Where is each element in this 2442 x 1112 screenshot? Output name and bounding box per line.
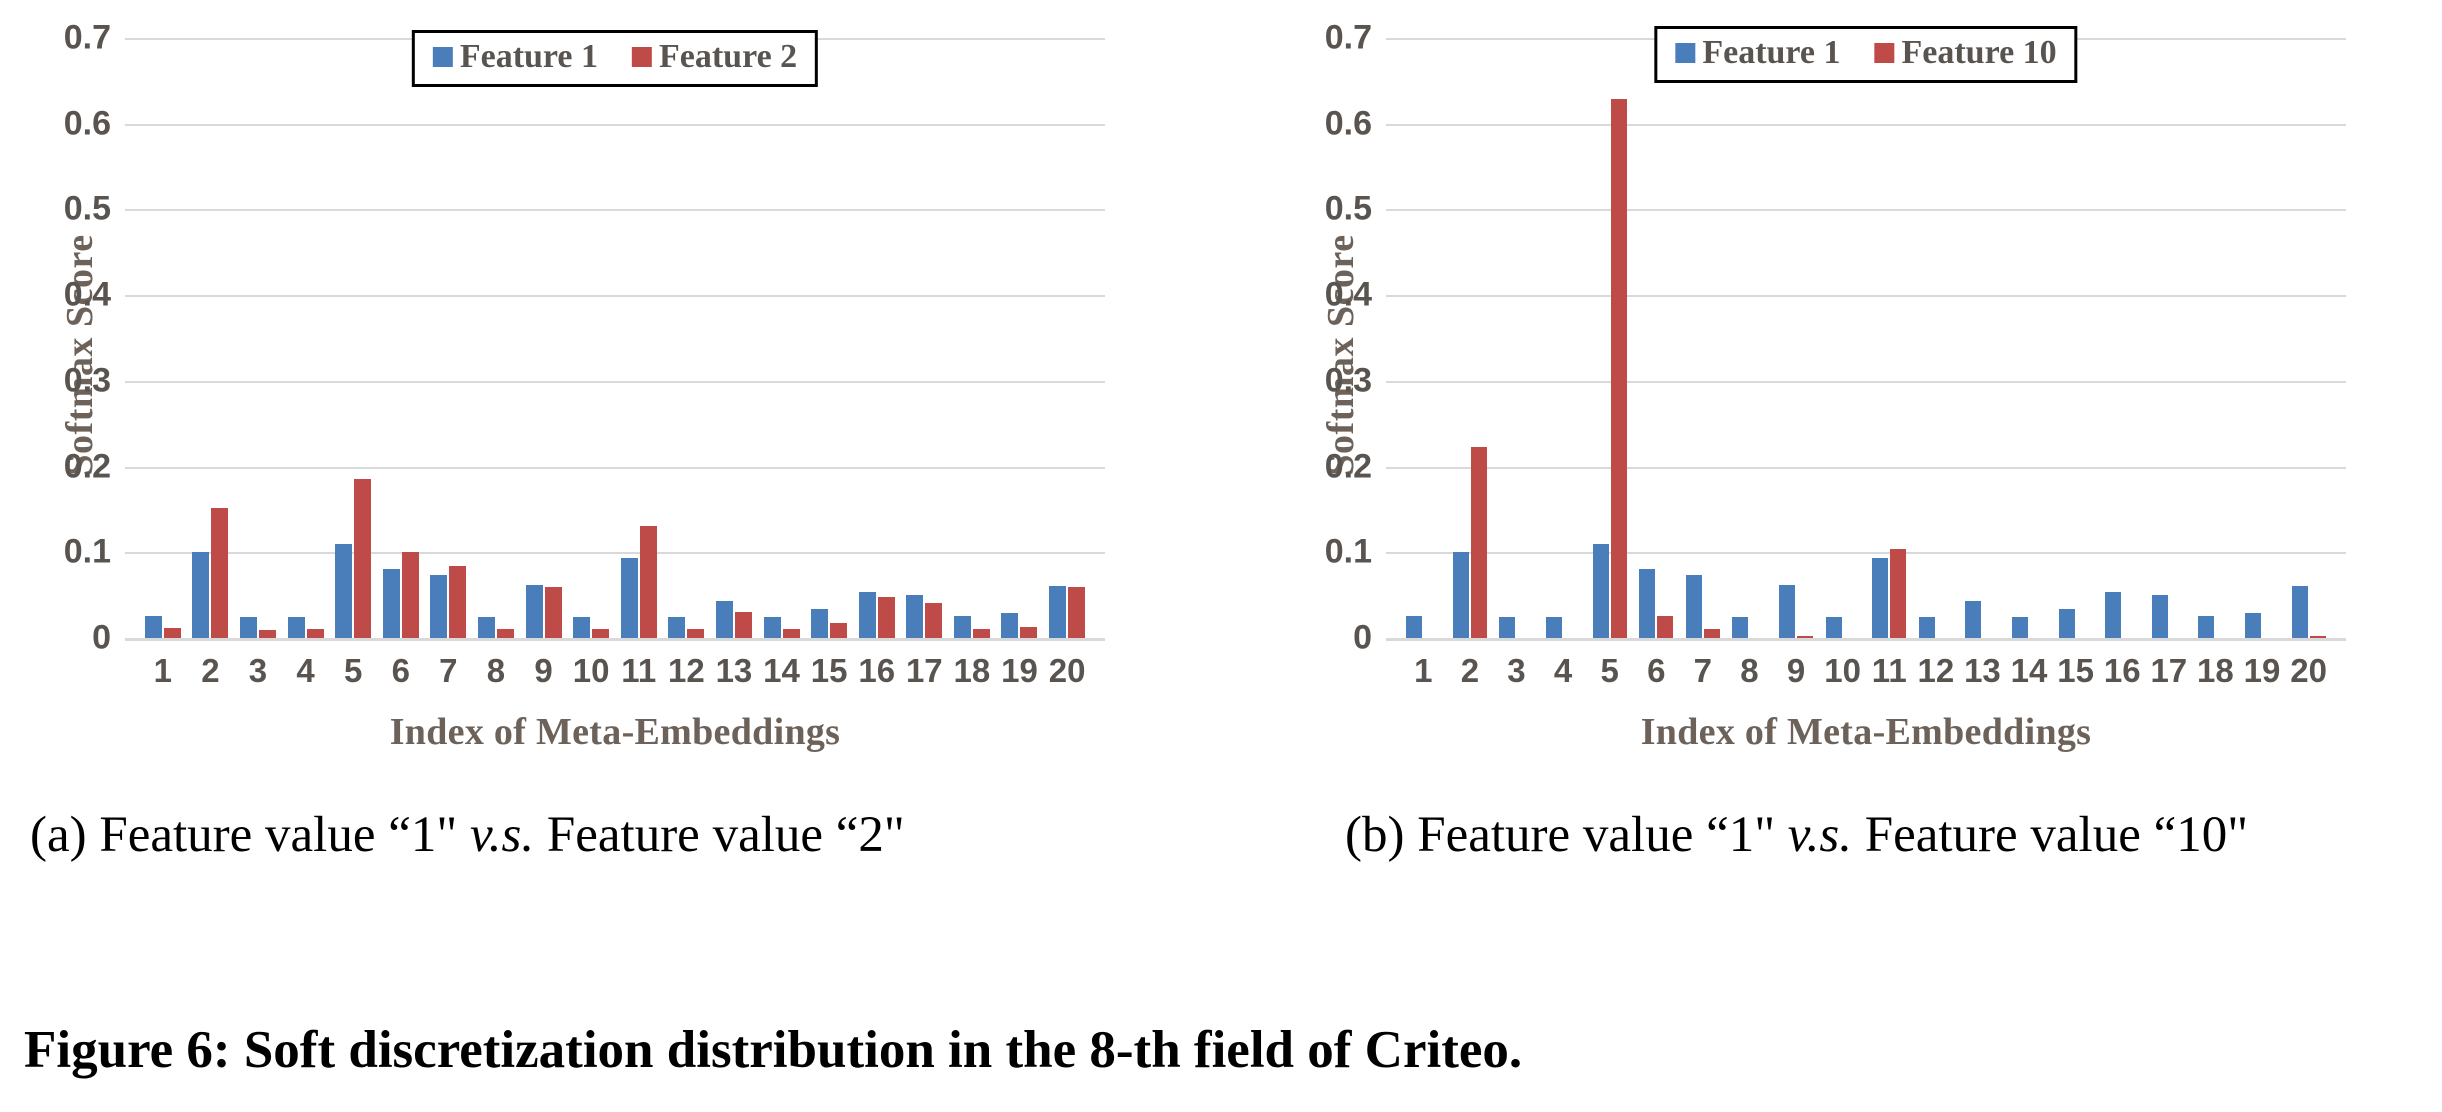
y-axis-tick-label-b: 0.5 — [1325, 190, 1372, 229]
bar-feature-1-15 — [2059, 609, 2075, 638]
bar-group — [1043, 38, 1091, 638]
bar-feature-2-14 — [783, 629, 800, 638]
bar-group — [329, 38, 377, 638]
x-axis-tick-label-5: 5 — [1586, 652, 1633, 690]
bar-feature-2-5 — [354, 479, 371, 638]
bar-feature-1-10 — [1826, 617, 1842, 638]
bar-group — [520, 38, 568, 638]
bar-feature-1-6 — [383, 569, 400, 638]
bar-feature-1-12 — [668, 617, 685, 638]
bar-feature-10-9 — [1797, 636, 1813, 638]
legend-item-feature-1-b: Feature 1 — [1675, 34, 1840, 72]
bar-feature-1-19 — [1001, 613, 1018, 638]
bar-feature-1-8 — [478, 617, 495, 638]
bar-feature-10-6 — [1657, 616, 1673, 638]
bar-group — [948, 38, 996, 638]
bar-group — [901, 38, 949, 638]
bar-feature-1-7 — [430, 575, 447, 638]
x-axis-tick-label-6: 6 — [377, 652, 425, 690]
x-axis-tick-label-6: 6 — [1633, 652, 1680, 690]
x-axis-tick-label-14: 14 — [2006, 652, 2053, 690]
x-axis-tick-label-3: 3 — [1493, 652, 1540, 690]
x-axis-tick-label-4: 4 — [282, 652, 330, 690]
y-axis-tick-label-a: 0.6 — [64, 104, 111, 143]
bar-feature-1-4 — [288, 617, 305, 638]
bar-group — [2192, 38, 2239, 638]
gridline-b — [1386, 638, 2346, 641]
bar-feature-2-1 — [164, 628, 181, 638]
bar-feature-1-14 — [764, 617, 781, 638]
bar-feature-1-13 — [1965, 601, 1981, 638]
x-axis-tick-label-1: 1 — [1400, 652, 1447, 690]
bar-feature-1-9 — [526, 585, 543, 638]
x-axis-tick-label-9: 9 — [1773, 652, 1820, 690]
legend-label-series-1-b: Feature 10 — [1902, 34, 2057, 72]
x-axis-tick-label-5: 5 — [329, 652, 377, 690]
bar-feature-1-11 — [621, 558, 638, 638]
bar-feature-1-18 — [2198, 616, 2214, 638]
legend-label-series-0-a: Feature 1 — [460, 38, 598, 76]
bar-group — [710, 38, 758, 638]
bar-feature-1-18 — [954, 616, 971, 638]
x-axis-tick-label-3: 3 — [234, 652, 282, 690]
bar-feature-2-2 — [211, 508, 228, 638]
x-axis-tick-label-16: 16 — [853, 652, 901, 690]
x-axis-tick-label-4: 4 — [1540, 652, 1587, 690]
legend-swatch-icon-series-0-a — [433, 47, 453, 67]
bar-feature-10-2 — [1471, 447, 1487, 638]
bar-feature-1-20 — [2292, 586, 2308, 638]
x-axis-tick-label-11: 11 — [615, 652, 663, 690]
x-axis-tick-label-8: 8 — [472, 652, 520, 690]
bar-feature-1-1 — [1406, 616, 1422, 638]
plot-area-b: Feature 1 Feature 10 00.10.20.30.40.50.6… — [1386, 38, 2346, 638]
x-axis-tick-label-7: 7 — [425, 652, 473, 690]
bar-feature-10-7 — [1704, 629, 1720, 638]
legend-swatch-icon-series-1-b — [1875, 43, 1895, 63]
plot-area-a: Feature 1 Feature 2 00.10.20.30.40.50.60… — [125, 38, 1105, 638]
bar-feature-1-12 — [1919, 617, 1935, 638]
bar-group — [139, 38, 187, 638]
bar-feature-2-8 — [497, 629, 514, 638]
legend-swatch-icon-series-0-b — [1675, 43, 1695, 63]
bar-feature-10-11 — [1890, 549, 1906, 638]
bar-feature-2-7 — [449, 566, 466, 638]
bar-feature-2-16 — [878, 597, 895, 638]
bar-group — [567, 38, 615, 638]
bar-feature-1-17 — [906, 595, 923, 638]
bar-feature-2-17 — [925, 603, 942, 638]
bar-group — [282, 38, 330, 638]
x-axis-label-b: Index of Meta-Embeddings — [1386, 710, 2346, 754]
bar-group — [377, 38, 425, 638]
bar-group — [758, 38, 806, 638]
x-axis-tick-label-2: 2 — [1447, 652, 1494, 690]
bar-feature-1-14 — [2012, 617, 2028, 638]
figure-caption: Figure 6: Soft discretization distributi… — [24, 1020, 2424, 1080]
bar-feature-10-20 — [2310, 636, 2326, 638]
y-axis-tick-label-a: 0.3 — [64, 361, 111, 400]
bar-feature-2-19 — [1020, 627, 1037, 638]
bar-feature-1-5 — [1593, 544, 1609, 638]
x-axis-tick-label-19: 19 — [2239, 652, 2286, 690]
y-axis-tick-label-a: 0.4 — [64, 276, 111, 315]
bar-feature-1-19 — [2245, 613, 2261, 638]
bar-group — [1913, 38, 1960, 638]
bar-feature-1-16 — [859, 592, 876, 638]
legend-item-feature-2-a: Feature 2 — [632, 38, 797, 76]
y-axis-tick-label-b: 0.6 — [1325, 104, 1372, 143]
subcaption-a-suffix: Feature value “2" — [534, 807, 905, 863]
bar-feature-10-5 — [1611, 99, 1627, 638]
bar-group — [1493, 38, 1540, 638]
legend-label-series-1-a: Feature 2 — [659, 38, 797, 76]
bar-feature-2-3 — [259, 630, 276, 638]
y-axis-tick-label-a: 0.7 — [64, 19, 111, 58]
chart-panel-b: Softmax Score Feature 1 Feature 10 00.10… — [1221, 0, 2442, 800]
bar-feature-1-15 — [811, 609, 828, 638]
figure-6-root: Softmax Score Feature 1 Feature 2 00.10.… — [0, 0, 2442, 1112]
bar-feature-1-4 — [1546, 617, 1562, 638]
chart-panel-a: Softmax Score Feature 1 Feature 2 00.10.… — [0, 0, 1221, 800]
x-axis-label-a: Index of Meta-Embeddings — [125, 710, 1105, 754]
y-axis-tick-label-b: 0.4 — [1325, 276, 1372, 315]
bar-group — [2052, 38, 2099, 638]
subcaption-a: (a) Feature value “1" v.s. Feature value… — [30, 808, 1140, 863]
x-axis-tick-label-18: 18 — [2192, 652, 2239, 690]
bar-group — [1633, 38, 1680, 638]
x-axis-tick-label-11: 11 — [1866, 652, 1913, 690]
x-axis-tick-label-13: 13 — [1959, 652, 2006, 690]
x-axis-tick-label-12: 12 — [663, 652, 711, 690]
legend-item-feature-1-a: Feature 1 — [433, 38, 598, 76]
bar-feature-1-2 — [192, 552, 209, 638]
bar-feature-1-3 — [240, 617, 257, 638]
x-axis-tick-label-10: 10 — [567, 652, 615, 690]
x-axis-tick-label-9: 9 — [520, 652, 568, 690]
legend-b: Feature 1 Feature 10 — [1654, 26, 2077, 83]
x-axis-tick-label-16: 16 — [2099, 652, 2146, 690]
x-axis-tick-label-10: 10 — [1819, 652, 1866, 690]
bar-group — [2146, 38, 2193, 638]
bar-feature-1-6 — [1639, 569, 1655, 638]
bar-feature-2-6 — [402, 552, 419, 638]
y-axis-tick-label-b: 0.2 — [1325, 447, 1372, 486]
x-axis-tick-label-1: 1 — [139, 652, 187, 690]
subcaption-b-suffix: Feature value “10" — [1852, 807, 2248, 863]
bar-feature-1-16 — [2105, 592, 2121, 638]
subcaption-b: (b) Feature value “1" v.s. Feature value… — [1345, 808, 2442, 863]
subcaption-a-prefix: (a) Feature value “1" — [30, 807, 470, 863]
gridline-a — [125, 638, 1105, 641]
y-axis-tick-label-a: 0.1 — [64, 533, 111, 572]
x-axis-tick-label-8: 8 — [1726, 652, 1773, 690]
x-axis-tick-label-17: 17 — [901, 652, 949, 690]
x-axis-tick-label-12: 12 — [1913, 652, 1960, 690]
bar-feature-2-20 — [1068, 587, 1085, 638]
bar-group — [1819, 38, 1866, 638]
y-axis-tick-label-a: 0.5 — [64, 190, 111, 229]
y-axis-tick-label-a: 0.2 — [64, 447, 111, 486]
bar-feature-1-9 — [1779, 585, 1795, 638]
x-axis-tick-label-17: 17 — [2146, 652, 2193, 690]
bar-feature-2-4 — [307, 629, 324, 638]
y-axis-tick-label-b: 0.7 — [1325, 19, 1372, 58]
bar-feature-1-7 — [1686, 575, 1702, 638]
bar-group — [1447, 38, 1494, 638]
bar-group — [1726, 38, 1773, 638]
bars-container-b — [1386, 38, 2346, 638]
bars-container-a — [125, 38, 1105, 638]
bar-feature-1-17 — [2152, 595, 2168, 638]
x-axis-ticks-a: 1234567891011121314151617181920 — [125, 652, 1105, 690]
bar-group — [425, 38, 473, 638]
bar-group — [1866, 38, 1913, 638]
x-axis-ticks-b: 1234567891011121314151617181920 — [1386, 652, 2346, 690]
subcaption-b-italic: v.s. — [1788, 807, 1852, 863]
bar-feature-1-10 — [573, 617, 590, 638]
bar-feature-1-20 — [1049, 586, 1066, 638]
bar-group — [1400, 38, 1447, 638]
legend-a: Feature 1 Feature 2 — [412, 30, 818, 87]
bar-group — [1773, 38, 1820, 638]
bar-feature-2-13 — [735, 612, 752, 638]
bar-feature-1-11 — [1872, 558, 1888, 638]
bar-feature-1-5 — [335, 544, 352, 638]
bar-group — [234, 38, 282, 638]
x-axis-tick-label-15: 15 — [2052, 652, 2099, 690]
subcaption-a-italic: v.s. — [470, 807, 534, 863]
bar-feature-2-10 — [592, 629, 609, 638]
bar-group — [996, 38, 1044, 638]
x-axis-tick-label-13: 13 — [710, 652, 758, 690]
y-axis-tick-label-a: 0 — [92, 619, 111, 658]
y-axis-tick-label-b: 0 — [1353, 619, 1372, 658]
bar-feature-1-8 — [1732, 617, 1748, 638]
bar-feature-1-13 — [716, 601, 733, 638]
y-axis-tick-label-b: 0.3 — [1325, 361, 1372, 400]
chart-panels-row: Softmax Score Feature 1 Feature 2 00.10.… — [0, 0, 2442, 800]
bar-feature-2-11 — [640, 526, 657, 638]
bar-feature-2-18 — [973, 629, 990, 638]
bar-group — [853, 38, 901, 638]
legend-label-series-0-b: Feature 1 — [1702, 34, 1840, 72]
subcaption-b-prefix: (b) Feature value “1" — [1345, 807, 1788, 863]
bar-group — [2239, 38, 2286, 638]
x-axis-tick-label-2: 2 — [187, 652, 235, 690]
x-axis-tick-label-15: 15 — [805, 652, 853, 690]
bar-group — [1959, 38, 2006, 638]
bar-feature-2-15 — [830, 623, 847, 638]
x-axis-tick-label-18: 18 — [948, 652, 996, 690]
x-axis-tick-label-20: 20 — [1043, 652, 1091, 690]
bar-group — [2006, 38, 2053, 638]
bar-group — [2285, 38, 2332, 638]
x-axis-tick-label-19: 19 — [996, 652, 1044, 690]
y-axis-tick-label-b: 0.1 — [1325, 533, 1372, 572]
x-axis-tick-label-20: 20 — [2285, 652, 2332, 690]
bar-feature-2-9 — [545, 587, 562, 638]
x-axis-tick-label-7: 7 — [1680, 652, 1727, 690]
bar-feature-1-2 — [1453, 552, 1469, 638]
bar-group — [2099, 38, 2146, 638]
x-axis-tick-label-14: 14 — [758, 652, 806, 690]
bar-group — [1586, 38, 1633, 638]
bar-group — [805, 38, 853, 638]
bar-group — [1680, 38, 1727, 638]
bar-group — [472, 38, 520, 638]
legend-swatch-icon-series-1-a — [632, 47, 652, 67]
bar-group — [1540, 38, 1587, 638]
bar-group — [663, 38, 711, 638]
bar-feature-1-3 — [1499, 617, 1515, 638]
bar-group — [615, 38, 663, 638]
legend-item-feature-10-b: Feature 10 — [1875, 34, 2057, 72]
bar-feature-1-1 — [145, 616, 162, 638]
bar-feature-2-12 — [687, 629, 704, 638]
bar-group — [187, 38, 235, 638]
